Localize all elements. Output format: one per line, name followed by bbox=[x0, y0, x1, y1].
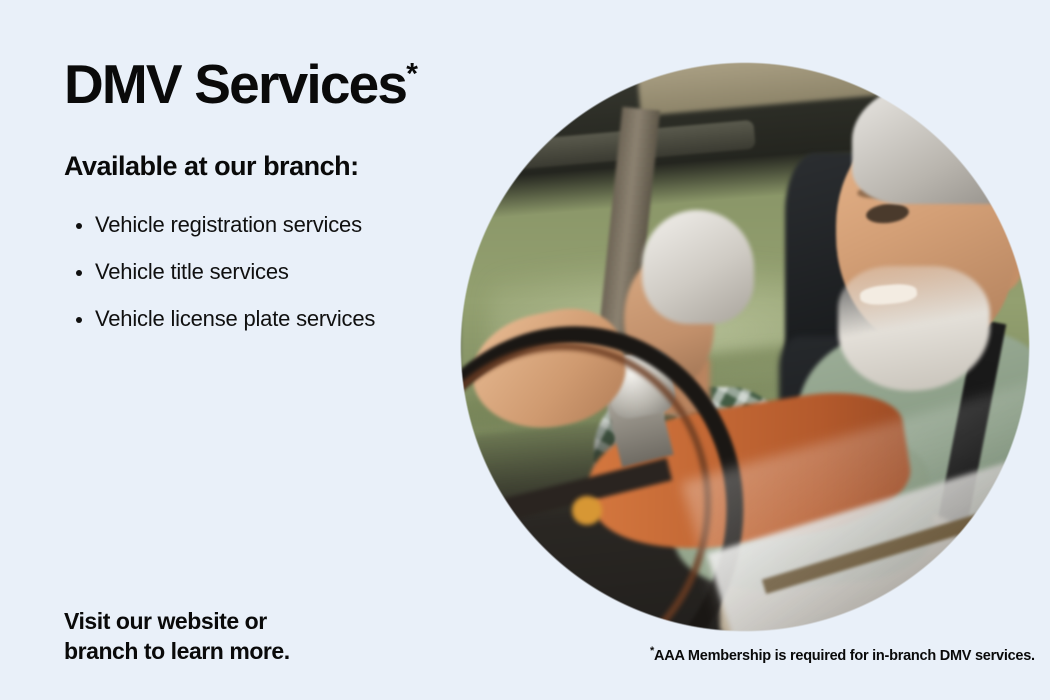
subheading: Available at our branch: bbox=[64, 151, 484, 182]
footnote: *AAA Membership is required for in-branc… bbox=[650, 648, 1035, 664]
list-item: Vehicle registration services bbox=[64, 212, 484, 238]
page-title: DMV Services* bbox=[64, 56, 484, 112]
title-asterisk: * bbox=[406, 58, 418, 91]
cta-line-2: branch to learn more. bbox=[64, 636, 394, 666]
list-item: Vehicle license plate services bbox=[64, 306, 484, 332]
list-item-label: Vehicle registration services bbox=[95, 212, 362, 237]
page-title-text: DMV Services bbox=[64, 53, 406, 115]
call-to-action: Visit our website or branch to learn mor… bbox=[64, 606, 394, 667]
copy-column: DMV Services* Available at our branch: V… bbox=[64, 56, 484, 353]
footnote-text: AAA Membership is required for in-branch… bbox=[654, 648, 1035, 664]
dmv-services-poster: DMV Services* Available at our branch: V… bbox=[0, 0, 1050, 700]
services-list: Vehicle registration services Vehicle ti… bbox=[64, 212, 484, 332]
bullet-icon bbox=[76, 223, 82, 229]
list-item-label: Vehicle title services bbox=[95, 259, 289, 284]
hero-photo bbox=[460, 62, 1050, 633]
driver-hair bbox=[852, 79, 1037, 204]
list-item-label: Vehicle license plate services bbox=[95, 306, 375, 331]
dashboard-amber-light bbox=[572, 496, 602, 525]
list-item: Vehicle title services bbox=[64, 259, 484, 285]
photo-scene bbox=[460, 62, 1050, 633]
passenger-hair bbox=[642, 210, 754, 323]
bullet-icon bbox=[76, 317, 82, 323]
cta-line-1: Visit our website or bbox=[64, 606, 394, 636]
bullet-icon bbox=[76, 270, 82, 276]
